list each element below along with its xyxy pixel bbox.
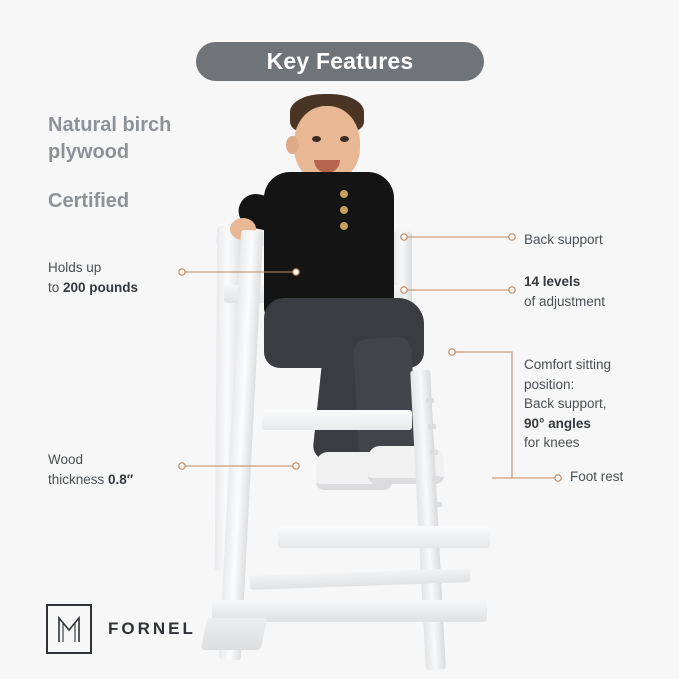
callout-back-support-text: Back support bbox=[524, 230, 664, 250]
callout-holds-up-to: Holds up to 200 pounds bbox=[48, 258, 198, 297]
callout-foot-rest-text: Foot rest bbox=[570, 467, 679, 487]
brand-logo: FORNEL bbox=[46, 604, 196, 654]
callout-wood-value: 0.8″ bbox=[108, 472, 133, 487]
callout-comfort-line2: position: bbox=[524, 375, 674, 395]
callout-wood-thickness: Wood thickness 0.8″ bbox=[48, 450, 208, 489]
callout-wood-line2: thickness 0.8″ bbox=[48, 470, 208, 490]
poster-canvas: Key Features Natural birch plywood Certi… bbox=[0, 0, 679, 679]
callout-comfort-line5: for knees bbox=[524, 433, 674, 453]
callout-comfort-position: Comfort sitting position: Back support, … bbox=[524, 355, 674, 453]
callout-comfort-line1: Comfort sitting bbox=[524, 355, 674, 375]
callout-levels-line2: of adjustment bbox=[524, 292, 664, 312]
callout-back-support: Back support bbox=[524, 230, 664, 250]
callout-holds-prefix: to bbox=[48, 280, 63, 295]
brand-name: FORNEL bbox=[108, 619, 196, 639]
logo-monogram-icon bbox=[46, 604, 92, 654]
callout-comfort-angle: 90° angles bbox=[524, 416, 591, 431]
callout-wood-prefix: thickness bbox=[48, 472, 108, 487]
callout-foot-rest: Foot rest bbox=[570, 467, 679, 487]
callout-comfort-line3: Back support, bbox=[524, 394, 674, 414]
callout-levels-strong: 14 levels bbox=[524, 274, 580, 289]
callout-levels-value: 14 levels bbox=[524, 272, 664, 292]
callout-holds-value: 200 pounds bbox=[63, 280, 138, 295]
callout-comfort-line4: 90° angles bbox=[524, 414, 674, 434]
callout-levels: 14 levels of adjustment bbox=[524, 272, 664, 311]
callout-holds-line2: to 200 pounds bbox=[48, 278, 198, 298]
callout-wood-line1: Wood bbox=[48, 450, 208, 470]
logo-monogram-glyph bbox=[56, 614, 82, 644]
callout-connectors bbox=[0, 0, 679, 679]
callout-holds-line1: Holds up bbox=[48, 258, 198, 278]
